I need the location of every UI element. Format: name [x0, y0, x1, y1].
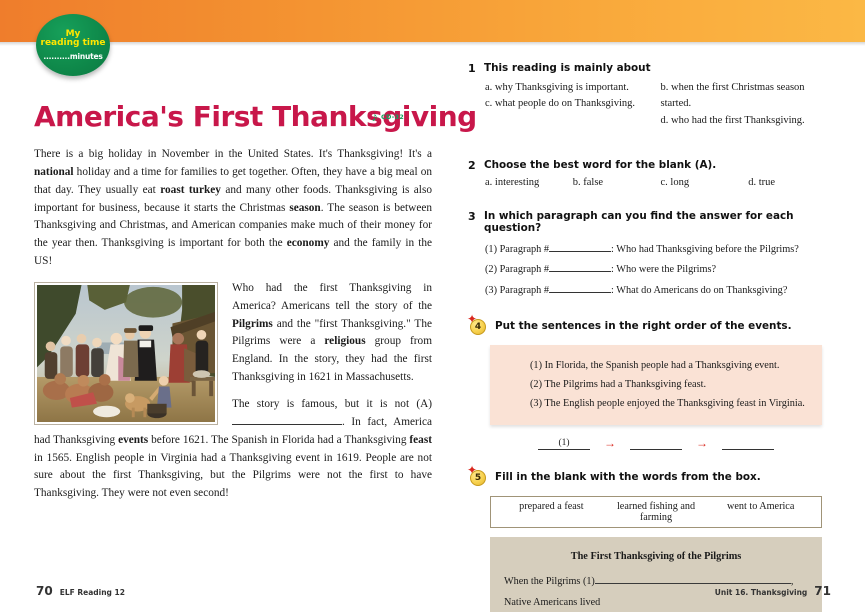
- question-3-number: 3: [468, 210, 477, 223]
- q3-blank-1[interactable]: [549, 242, 611, 252]
- question-1-prompt: This reading is mainly about: [484, 62, 651, 74]
- question-2-options: a. interesting b. false c. long d. true: [485, 177, 836, 188]
- question-5-word-bank: prepared a feast learned fishing and far…: [490, 496, 822, 528]
- question-5-prompt: Fill in the blank with the words from th…: [495, 471, 761, 483]
- question-1-number: 1: [468, 62, 477, 75]
- q4-sentence-1: (1) In Florida, the Spanish people had a…: [530, 356, 808, 375]
- star-badge-5: ✦ 5: [468, 467, 488, 487]
- question-3-item-2: (2) Paragraph #: Who were the Pilgrims?: [485, 260, 836, 281]
- q3-blank-3[interactable]: [549, 283, 611, 293]
- page-number-right: 71: [814, 584, 831, 598]
- option-2d[interactable]: d. true: [748, 177, 836, 188]
- question-1-options: a. why Thanksgiving is important. c. wha…: [485, 80, 836, 129]
- question-4-head: ✦ 4 Put the sentences in the right order…: [468, 318, 836, 336]
- q3-label-2: (2) Paragraph #: [485, 260, 549, 281]
- header-shadow: [0, 42, 865, 46]
- q4-sentence-2: (2) The Pilgrims had a Thanksgiving feas…: [530, 375, 808, 394]
- q3-question-1: : Who had Thanksgiving before the Pilgri…: [611, 244, 799, 255]
- question-4-number: 4: [470, 319, 486, 335]
- question-4-prompt: Put the sentences in the right order of …: [495, 320, 792, 332]
- q4-sentence-3: (3) The English people enjoyed the Thank…: [530, 394, 808, 413]
- blank-a[interactable]: [232, 414, 342, 425]
- audio-track-badge: ♪ CD-32: [371, 110, 404, 123]
- reading-time-badge: My reading time ..........minutes: [36, 14, 110, 76]
- question-4: ✦ 4 Put the sentences in the right order…: [468, 318, 836, 451]
- word-bank-item-3[interactable]: went to America: [708, 501, 813, 523]
- word-bank-item-1[interactable]: prepared a feast: [499, 501, 604, 523]
- page-number-left: 70: [36, 584, 53, 598]
- header-orange-band: [0, 0, 865, 42]
- arrow-right-icon-1: →: [604, 436, 616, 451]
- footer-right: Unit 16. Thanksgiving 71: [715, 584, 831, 598]
- question-3-prompt: In which paragraph can you find the answ…: [484, 210, 836, 234]
- question-1-head: 1 This reading is mainly about: [468, 62, 836, 75]
- footer-left: 70 ELF Reading 12: [36, 584, 125, 598]
- q5-blank-1[interactable]: [595, 573, 791, 584]
- option-1d[interactable]: d. who had the first Thanksgiving.: [661, 113, 837, 129]
- q4-slot-1[interactable]: (1): [538, 437, 590, 450]
- thanksgiving-painting-frame: [34, 282, 218, 425]
- thanksgiving-painting: [37, 285, 215, 422]
- q3-question-2: : Who were the Pilgrims?: [611, 264, 716, 275]
- option-2b[interactable]: b. false: [573, 177, 661, 188]
- summary-pre-1: When the Pilgrims (1): [504, 576, 595, 587]
- q3-question-3: : What do Americans do on Thanksgiving?: [611, 285, 787, 296]
- option-2c[interactable]: c. long: [661, 177, 749, 188]
- textbook-page-spread: My reading time ..........minutes Americ…: [0, 0, 865, 612]
- unit-title-label: Unit 16. Thanksgiving: [715, 588, 808, 597]
- title-row: America's First Thanksgiving ♪ CD-32: [34, 100, 432, 146]
- option-1a[interactable]: a. why Thanksgiving is important.: [485, 80, 661, 96]
- question-4-answer-row: (1) → →: [490, 436, 822, 451]
- reading-column: America's First Thanksgiving ♪ CD-32 The…: [34, 100, 432, 512]
- q3-label-3: (3) Paragraph #: [485, 281, 549, 302]
- badge-minutes-blank: ..........minutes: [43, 53, 102, 61]
- q3-label-1: (1) Paragraph #: [485, 240, 549, 261]
- question-5-summary-box: The First Thanksgiving of the Pilgrims W…: [490, 537, 822, 612]
- question-2: 2 Choose the best word for the blank (A)…: [468, 159, 836, 188]
- question-4-sentence-box: (1) In Florida, the Spanish people had a…: [490, 345, 822, 425]
- question-3-head: 3 In which paragraph can you find the an…: [468, 210, 836, 234]
- book-title-label: ELF Reading 12: [60, 588, 125, 597]
- question-2-number: 2: [468, 159, 477, 172]
- question-3: 3 In which paragraph can you find the an…: [468, 210, 836, 302]
- option-2a[interactable]: a. interesting: [485, 177, 573, 188]
- arrow-right-icon-2: →: [696, 436, 708, 451]
- question-3-item-3: (3) Paragraph #: What do Americans do on…: [485, 281, 836, 302]
- q4-slot-2[interactable]: [630, 437, 682, 450]
- question-2-head: 2 Choose the best word for the blank (A)…: [468, 159, 836, 172]
- paragraph-1: There is a big holiday in November in th…: [34, 146, 432, 271]
- option-1b[interactable]: b. when the first Christmas season start…: [661, 80, 837, 113]
- word-bank-item-2[interactable]: learned fishing and farming: [604, 501, 709, 523]
- headphones-icon: ♪: [371, 110, 378, 123]
- star-badge-4: ✦ 4: [468, 316, 488, 336]
- question-3-items: (1) Paragraph #: Who had Thanksgiving be…: [485, 240, 836, 302]
- question-3-item-1: (1) Paragraph #: Who had Thanksgiving be…: [485, 240, 836, 261]
- badge-line-2: reading time: [41, 39, 106, 48]
- q4-slot-3[interactable]: [722, 437, 774, 450]
- article-body: There is a big holiday in November in th…: [34, 146, 432, 503]
- audio-track-label: CD-32: [381, 113, 404, 121]
- question-2-prompt: Choose the best word for the blank (A).: [484, 159, 716, 171]
- question-5-number: 5: [470, 470, 486, 486]
- option-1c[interactable]: c. what people do on Thanksgiving.: [485, 96, 661, 112]
- question-5-head: ✦ 5 Fill in the blank with the words fro…: [468, 469, 836, 487]
- exercise-column: 1 This reading is mainly about a. why Th…: [468, 62, 836, 612]
- summary-title: The First Thanksgiving of the Pilgrims: [504, 547, 808, 568]
- q3-blank-2[interactable]: [549, 262, 611, 272]
- question-1: 1 This reading is mainly about a. why Th…: [468, 62, 836, 129]
